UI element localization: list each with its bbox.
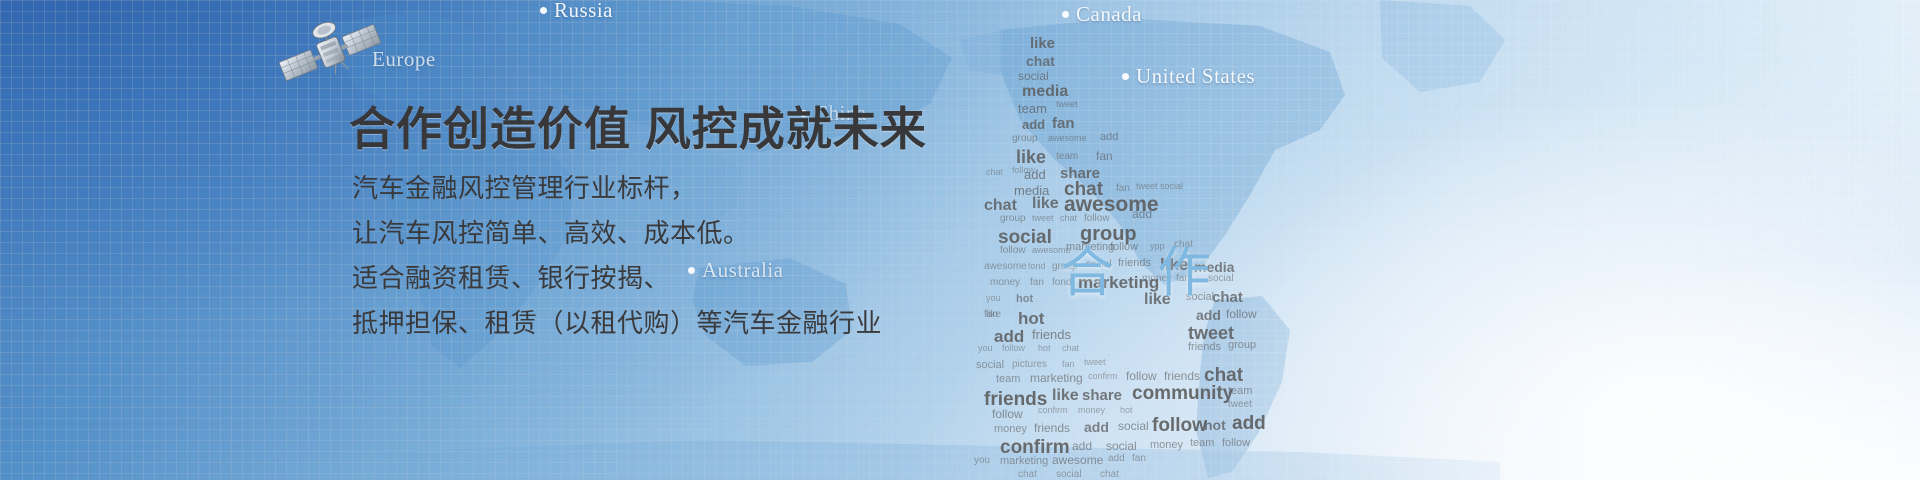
word-cloud-word: add bbox=[1072, 440, 1092, 452]
word-cloud-word: friends bbox=[1034, 422, 1070, 434]
grid-texture-dark bbox=[0, 0, 1920, 480]
word-cloud-word: hot bbox=[1204, 418, 1226, 432]
word-cloud-word: social bbox=[998, 228, 1052, 247]
word-cloud-word: confirm bbox=[1038, 406, 1068, 415]
word-cloud-word: social bbox=[976, 360, 1004, 371]
word-cloud-word: friends bbox=[984, 390, 1047, 409]
word-cloud-word: follow bbox=[1222, 438, 1250, 449]
word-cloud-word: chat bbox=[1204, 366, 1243, 385]
word-cloud-word: money bbox=[1150, 440, 1183, 451]
map-dot-russia bbox=[540, 7, 547, 14]
word-cloud-word: team bbox=[1056, 152, 1078, 162]
word-cloud-word: team bbox=[1228, 386, 1252, 397]
word-cloud-word: add bbox=[1024, 168, 1046, 181]
word-cloud-word: tweet bbox=[1228, 400, 1252, 410]
satellite-icon bbox=[278, 12, 386, 98]
word-cloud-word: marketing bbox=[1000, 456, 1048, 467]
word-cloud-word: follow bbox=[1002, 344, 1025, 353]
word-cloud-word: like bbox=[1016, 148, 1046, 166]
word-cloud-word: fan bbox=[1132, 454, 1146, 464]
word-cloud-word: tweet bbox=[1136, 182, 1158, 191]
word-cloud-word: friends bbox=[1188, 342, 1221, 353]
word-cloud-word: tweet bbox=[1188, 324, 1234, 342]
word-cloud-word: chat bbox=[1018, 470, 1037, 480]
word-cloud-word: like bbox=[1052, 388, 1079, 404]
word-cloud-word: awesome bbox=[1064, 194, 1159, 215]
word-cloud-word: group bbox=[1012, 134, 1038, 144]
word-cloud-word: social bbox=[1160, 182, 1183, 191]
word-cloud-word: social bbox=[1018, 70, 1049, 82]
word-cloud-word: share bbox=[1082, 388, 1122, 403]
word-cloud-word: fan bbox=[1052, 116, 1075, 131]
word-cloud-word: money bbox=[1078, 406, 1105, 415]
word-cloud-word: money bbox=[990, 278, 1020, 288]
word-cloud-word: like bbox=[1032, 196, 1059, 212]
promo-banner: Russia Canada Europe United States China… bbox=[0, 0, 1920, 480]
subcopy-line-4: 抵押担保、租赁（以租代购）等汽车金融行业 bbox=[352, 301, 927, 346]
word-cloud-word: awesome bbox=[984, 262, 1027, 272]
word-cloud-word: chat bbox=[986, 168, 1003, 177]
word-cloud-word: follow bbox=[1084, 214, 1110, 224]
word-cloud-word: media bbox=[1022, 84, 1068, 100]
word-cloud-word: group bbox=[1000, 214, 1026, 224]
word-cloud-word: friends bbox=[1032, 328, 1071, 341]
word-cloud-word: follow bbox=[1226, 308, 1257, 320]
word-cloud-word: chat bbox=[1060, 214, 1077, 223]
word-cloud-word: awesome bbox=[1048, 134, 1087, 143]
map-dot-canada bbox=[1062, 11, 1069, 18]
word-cloud-word: chat bbox=[1064, 180, 1103, 199]
word-cloud-word: fan bbox=[1030, 278, 1044, 288]
word-cloud-word: follow bbox=[992, 408, 1023, 420]
word-cloud-word: add bbox=[1084, 420, 1109, 434]
word-cloud-word: tweet bbox=[1084, 358, 1106, 367]
word-cloud-word: hot bbox=[1018, 310, 1044, 327]
word-cloud-word: team bbox=[996, 374, 1020, 385]
world-map-background bbox=[0, 0, 1920, 480]
word-cloud-word: add bbox=[1132, 208, 1152, 220]
word-cloud-word: group bbox=[1228, 340, 1256, 351]
map-label-united-states: United States bbox=[1122, 64, 1255, 89]
banner-headline: 合作创造价值 风控成就未来 bbox=[349, 100, 927, 158]
word-cloud-word: add bbox=[1022, 118, 1045, 131]
light-glow bbox=[1200, 100, 1920, 480]
word-cloud-word: social bbox=[1106, 440, 1137, 452]
word-cloud-word: follow bbox=[1012, 166, 1035, 175]
word-cloud-word: marketing bbox=[1030, 372, 1083, 384]
word-cloud-word: community bbox=[1132, 384, 1233, 403]
word-cloud-word: you bbox=[986, 294, 1001, 303]
word-cloud-word: chat bbox=[1100, 470, 1119, 480]
word-cloud-word: fond bbox=[1028, 262, 1046, 271]
banner-copy: 合作创造价值 风控成就未来 汽车金融风控管理行业标杆， 让汽车风控简单、高效、成… bbox=[349, 100, 927, 346]
word-cloud-word: tweet bbox=[1032, 214, 1054, 223]
word-cloud-overlay-label: 合 作 bbox=[1060, 228, 1225, 307]
word-cloud-word: share bbox=[1060, 166, 1100, 181]
word-cloud-word: follow bbox=[1126, 370, 1157, 382]
subcopy-line-2: 让汽车风控简单、高效、成本低。 bbox=[352, 211, 927, 256]
word-cloud-word: add bbox=[994, 328, 1024, 345]
word-cloud-word: add bbox=[1108, 454, 1125, 464]
word-cloud-word: follow bbox=[1152, 416, 1207, 435]
word-cloud-word: pictures bbox=[1012, 360, 1047, 370]
word-cloud-word: awesome bbox=[1052, 454, 1103, 466]
word-cloud-word: you bbox=[974, 456, 990, 466]
word-cloud-word: friends bbox=[1164, 370, 1200, 382]
word-cloud-word: add bbox=[1100, 132, 1118, 143]
word-cloud-word: hot bbox=[1016, 294, 1033, 305]
word-cloud-word: like bbox=[1030, 36, 1055, 51]
subcopy-line-1: 汽车金融风控管理行业标杆， bbox=[352, 166, 927, 211]
word-cloud-word: add bbox=[1232, 414, 1266, 433]
word-cloud-word: money bbox=[994, 424, 1027, 435]
grid-texture-light bbox=[0, 0, 1920, 480]
word-cloud-word: team bbox=[1190, 438, 1214, 449]
map-label-canada: Canada bbox=[1062, 2, 1142, 27]
word-cloud-word: hot bbox=[1038, 344, 1051, 353]
word-cloud-word: media bbox=[1014, 184, 1049, 197]
map-label-russia: Russia bbox=[540, 0, 613, 23]
word-cloud-word: social bbox=[1056, 470, 1082, 480]
word-cloud-word: fan bbox=[1062, 360, 1075, 369]
word-cloud-word: chat bbox=[984, 198, 1017, 214]
word-cloud-word: like bbox=[986, 310, 1001, 320]
word-cloud-word: fan bbox=[1096, 150, 1113, 162]
map-label-europe: Europe bbox=[372, 47, 436, 72]
word-cloud-word: chat bbox=[1062, 344, 1079, 353]
word-cloud-word: add bbox=[1196, 308, 1221, 322]
word-cloud-word: chat bbox=[1026, 54, 1055, 68]
banner-subcopy: 汽车金融风控管理行业标杆， 让汽车风控简单、高效、成本低。 适合融资租赁、银行按… bbox=[352, 166, 927, 346]
subcopy-line-3: 适合融资租赁、银行按揭、 bbox=[352, 256, 927, 301]
word-cloud-word: social bbox=[1118, 420, 1149, 432]
word-cloud-word: confirm bbox=[1000, 438, 1070, 457]
map-dot-united-states bbox=[1122, 73, 1129, 80]
word-cloud-word: tweet bbox=[1056, 100, 1078, 109]
word-cloud-word: you bbox=[978, 344, 993, 353]
word-cloud-word: fan bbox=[1116, 184, 1130, 194]
word-cloud-word: follow bbox=[1000, 246, 1026, 256]
word-cloud-word: confirm bbox=[1088, 372, 1118, 381]
word-cloud-word: hot bbox=[1120, 406, 1133, 415]
word-cloud-word: fan bbox=[984, 310, 998, 320]
word-cloud-word: team bbox=[1018, 102, 1047, 115]
